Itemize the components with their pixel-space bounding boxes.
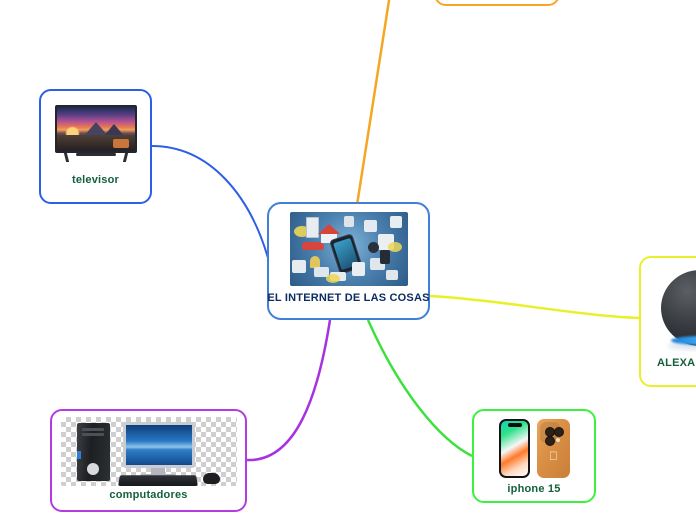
node-central-topic[interactable]: EL INTERNET DE LAS COSAS <box>267 202 430 320</box>
node-iphone[interactable]:  iphone 15 <box>472 409 596 503</box>
connector-alexa <box>430 296 640 318</box>
node-top-clipped[interactable] <box>434 0 560 6</box>
node-label-central: EL INTERNET DE LAS COSAS <box>267 293 429 304</box>
connector-televisor <box>152 146 268 258</box>
node-label-iphone: iphone 15 <box>507 484 560 495</box>
node-label-alexa: ALEXA (r <box>657 358 696 369</box>
mindmap-canvas: EL INTERNET DE LAS COSAS telev <box>0 0 696 520</box>
node-label-computadores: computadores <box>109 490 187 501</box>
connector-top-node <box>357 0 390 205</box>
apple-logo-icon:  <box>549 451 559 462</box>
iot-devices-illustration <box>290 212 408 286</box>
connector-iphone <box>368 320 472 456</box>
node-computadores[interactable]: computadores <box>50 409 247 512</box>
iphone-photo:  <box>487 417 581 480</box>
desktop-computer-photo <box>61 417 237 486</box>
television-photo <box>51 101 141 167</box>
connector-computadores <box>247 320 330 460</box>
node-alexa[interactable]: ALEXA (r <box>639 256 696 387</box>
node-televisor[interactable]: televisor <box>39 89 152 204</box>
node-label-televisor: televisor <box>72 175 119 186</box>
echo-dot-speaker-photo <box>651 266 696 352</box>
